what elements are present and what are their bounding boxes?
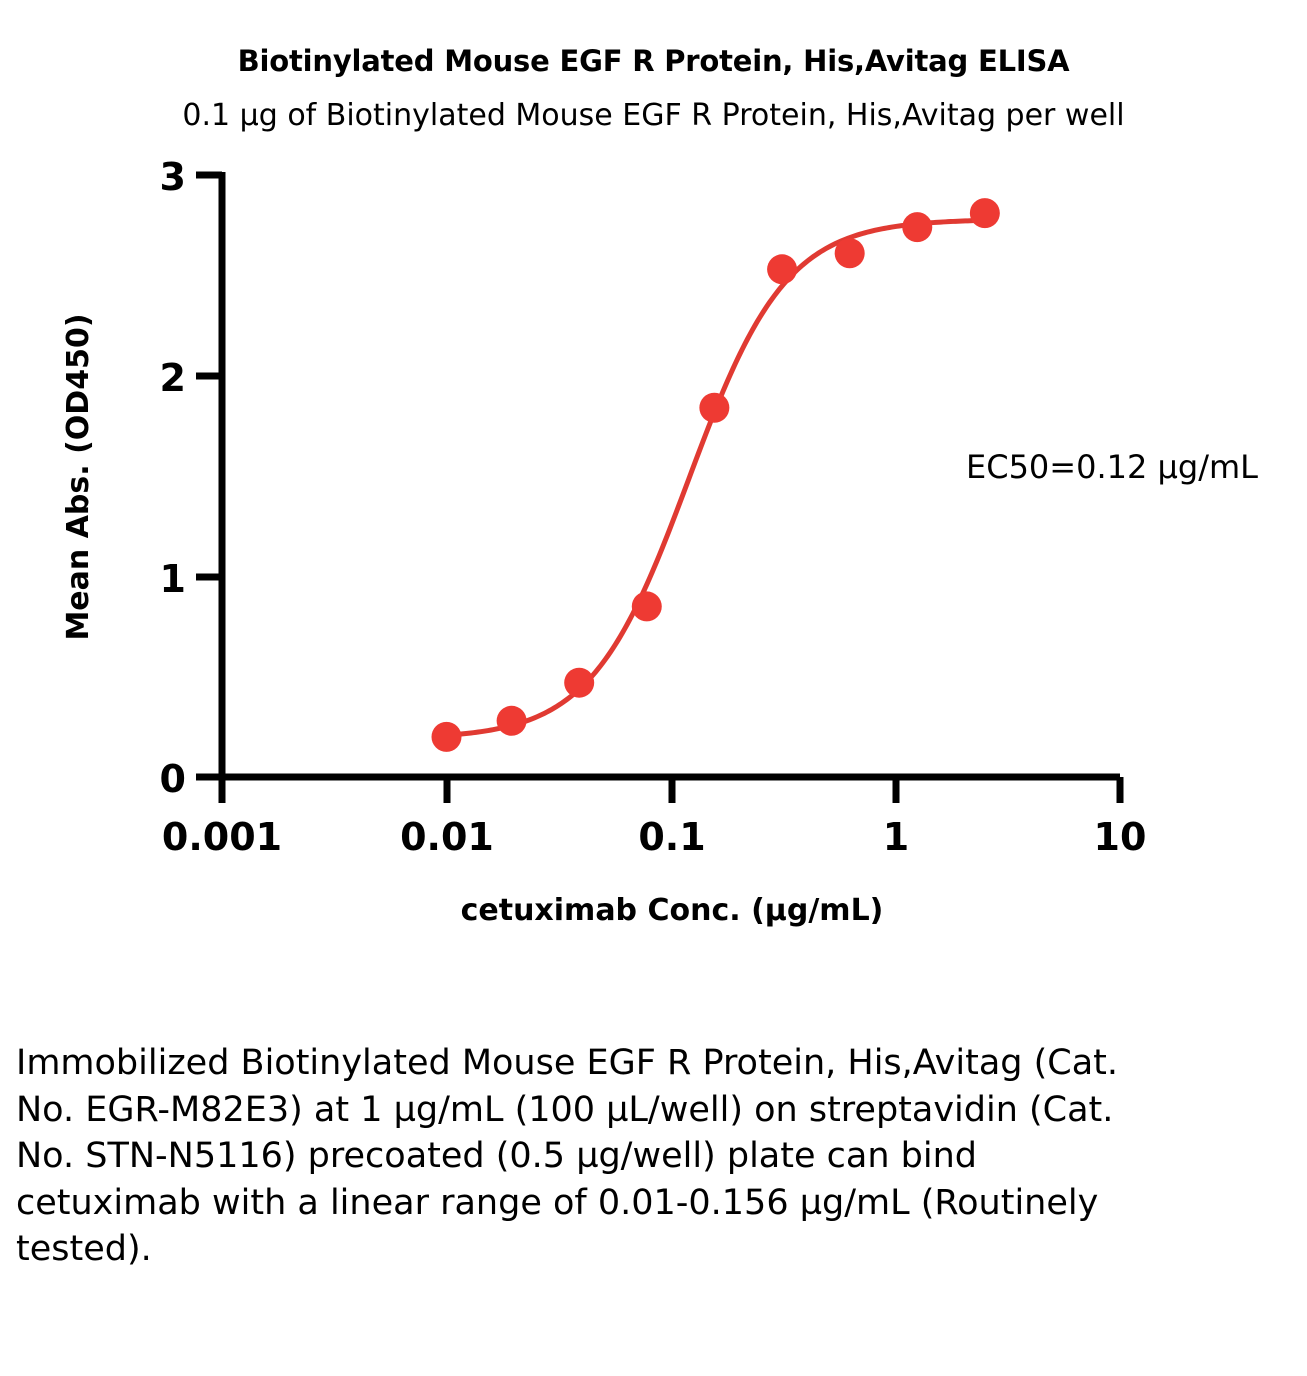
figure-caption: Immobilized Biotinylated Mouse EGF R Pro… xyxy=(16,1040,1166,1273)
data-point xyxy=(970,198,1000,228)
data-point xyxy=(632,591,662,621)
data-point xyxy=(835,238,865,268)
y-axis-title: Mean Abs. (OD450) xyxy=(61,313,96,640)
figure-panel: Biotinylated Mouse EGF R Protein, His,Av… xyxy=(0,0,1307,960)
x-axis-ticks xyxy=(222,777,1120,803)
y-tick-label-3: 3 xyxy=(160,155,186,199)
x-tick-label-1: 1 xyxy=(883,815,909,859)
fit-curve xyxy=(447,220,985,735)
x-tick-label-0p001: 0.001 xyxy=(162,815,282,859)
data-point xyxy=(564,668,594,698)
y-axis-ticks xyxy=(196,175,222,777)
y-tick-label-2: 2 xyxy=(160,356,186,400)
data-point xyxy=(432,722,462,752)
x-tick-label-10: 10 xyxy=(1094,815,1147,859)
x-tick-label-0p1: 0.1 xyxy=(638,815,705,859)
data-point xyxy=(902,212,932,242)
data-point-group xyxy=(432,198,1000,752)
data-point xyxy=(497,706,527,736)
x-axis-title: cetuximab Conc. (µg/mL) xyxy=(461,893,884,928)
y-tick-label-1: 1 xyxy=(160,557,186,601)
data-point xyxy=(699,393,729,423)
x-tick-label-0p01: 0.01 xyxy=(400,815,494,859)
data-point xyxy=(767,254,797,284)
elisa-scatter-chart: 3 2 1 0 0.001 0.01 0.1 1 10 cetuximab Co… xyxy=(0,0,1307,960)
ec50-annotation: EC50=0.12 µg/mL xyxy=(966,448,1258,486)
y-tick-label-0: 0 xyxy=(160,757,186,801)
